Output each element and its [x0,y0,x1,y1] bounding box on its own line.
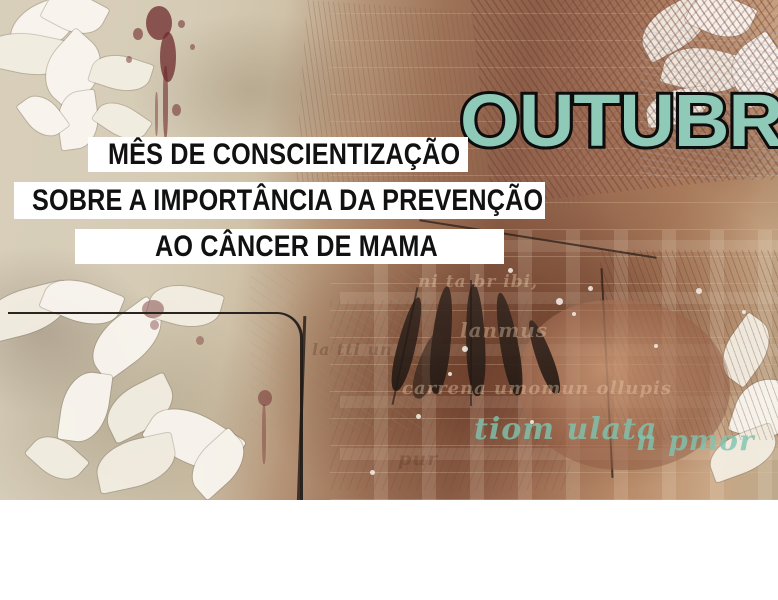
headline-band-2: SOBRE A IMPORTÂNCIA DA PREVENÇÃO [14,182,545,219]
poster-footer: CRP·RJ CONSELHO REGIONAL DE PSICOLOGIA D… [0,500,778,600]
headline-line-3: AO CÂNCER DE MAMA [155,232,438,262]
headline-line-2: SOBRE A IMPORTÂNCIA DA PREVENÇÃO [32,186,543,216]
headline-block: MÊS DE CONSCIENTIZAÇÃO SOBRE A IMPORTÂNC… [0,0,778,500]
poster: ni ta br ibi, lanmus carrena umomun ollu… [0,0,778,600]
headline-band-3: AO CÂNCER DE MAMA [75,229,504,264]
headline-band-1: MÊS DE CONSCIENTIZAÇÃO [88,137,468,172]
headline-line-1: MÊS DE CONSCIENTIZAÇÃO [108,140,460,170]
